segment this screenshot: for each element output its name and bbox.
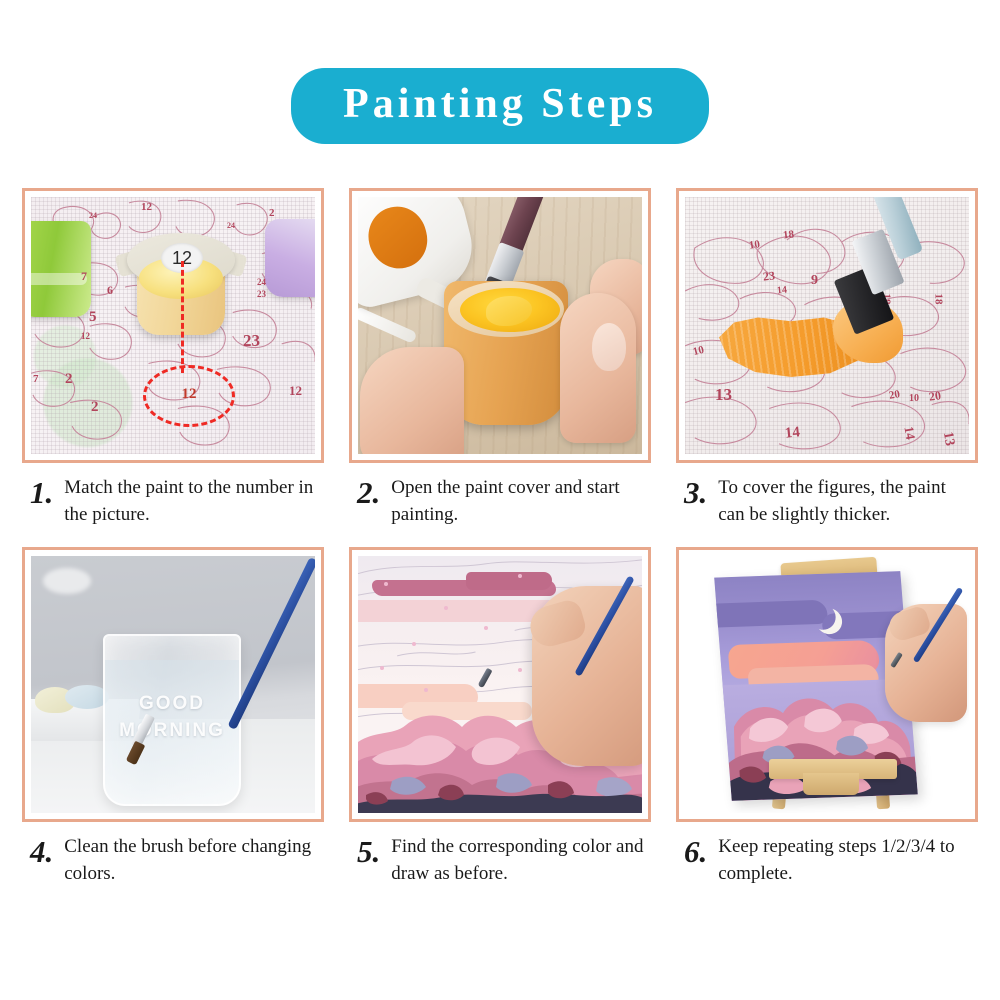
painted-mauve-band-2 bbox=[466, 572, 552, 590]
title-banner: Painting Steps bbox=[291, 68, 709, 144]
pot-rim bbox=[448, 281, 564, 337]
canvas-number: 24 bbox=[257, 277, 266, 287]
guide-dot bbox=[518, 574, 522, 578]
canvas-number: 7 bbox=[81, 269, 87, 284]
paint-pot-number-match-photo: 12 24 2 24 7 6 5 12 23 24 23 2 2 7 12 bbox=[31, 197, 315, 454]
thick-paint-brush-stroke-photo: 10 18 23 14 9 20 18 18 20 10 20 13 14 20… bbox=[685, 197, 969, 454]
water-glass: GOOD MORNING bbox=[103, 634, 241, 806]
step-1-number: 1. bbox=[30, 475, 53, 508]
glass-text-line-1: GOOD bbox=[105, 690, 239, 718]
canvas-number: 6 bbox=[107, 283, 113, 298]
painting-steps-infographic: Painting Steps bbox=[0, 0, 1000, 1000]
step-5-caption: 5. Find the corresponding color and draw… bbox=[349, 822, 651, 888]
canvas-number: 18 bbox=[782, 228, 794, 241]
open-paint-pot-photo bbox=[358, 197, 642, 454]
hand-thumb bbox=[360, 347, 464, 454]
step-1-caption: 1. Match the paint to the number in the … bbox=[22, 463, 324, 529]
step-5-text: Find the corresponding color and draw as… bbox=[391, 834, 646, 888]
step-card-5: 5. Find the corresponding color and draw… bbox=[349, 547, 651, 888]
canvas-number: 2 bbox=[65, 371, 73, 388]
step-6-number: 6. bbox=[684, 834, 707, 867]
canvas-number: 12 bbox=[141, 201, 152, 213]
canvas-number: 12 bbox=[81, 331, 90, 341]
guide-dot bbox=[384, 582, 388, 586]
canvas-number: 20 bbox=[928, 388, 942, 405]
canvas-number: 12 bbox=[289, 383, 302, 399]
painting-in-progress-photo bbox=[358, 556, 642, 813]
purple-paint-pot bbox=[265, 219, 315, 297]
canvas-number: 20 bbox=[888, 388, 901, 402]
clean-brush-in-water-photo: GOOD MORNING bbox=[31, 556, 315, 813]
blurred-object-top-left bbox=[43, 568, 91, 594]
guide-dot bbox=[412, 642, 416, 646]
canvas-number: 14 bbox=[784, 424, 801, 442]
step-2-number: 2. bbox=[357, 475, 380, 508]
canvas-number: 24 bbox=[89, 211, 97, 220]
step-2-text: Open the paint cover and start painting. bbox=[391, 475, 646, 529]
step-4-photo-frame: GOOD MORNING bbox=[22, 547, 324, 822]
yellow-paint bbox=[460, 288, 560, 332]
steps-grid: 12 24 2 24 7 6 5 12 23 24 23 2 2 7 12 bbox=[22, 188, 978, 888]
canvas-number: 10 bbox=[748, 238, 761, 251]
canvas-number: 5 bbox=[89, 309, 97, 326]
step-card-3: 10 18 23 14 9 20 18 18 20 10 20 13 14 20… bbox=[676, 188, 978, 529]
red-dashed-connector-line bbox=[181, 261, 184, 373]
canvas-number: 18 bbox=[933, 294, 945, 305]
step-3-text: To cover the figures, the paint can be s… bbox=[718, 475, 973, 529]
glass-text-line-2: MORNING bbox=[105, 717, 239, 745]
canvas-number: 23 bbox=[762, 268, 776, 284]
fingernail bbox=[592, 323, 626, 371]
step-1-photo-frame: 12 24 2 24 7 6 5 12 23 24 23 2 2 7 12 bbox=[22, 188, 324, 463]
step-card-1: 12 24 2 24 7 6 5 12 23 24 23 2 2 7 12 bbox=[22, 188, 324, 529]
guide-dot bbox=[444, 606, 448, 610]
canvas-number: 10 bbox=[909, 393, 919, 404]
step-3-number: 3. bbox=[684, 475, 707, 508]
step-6-photo-frame bbox=[676, 547, 978, 822]
step-4-text: Clean the brush before changing colors. bbox=[64, 834, 319, 888]
canvas-target-number: 12 bbox=[146, 386, 232, 403]
step-3-caption: 3. To cover the figures, the paint can b… bbox=[676, 463, 978, 529]
canvas-number: 23 bbox=[243, 331, 260, 351]
step-5-number: 5. bbox=[357, 834, 380, 867]
step-card-2: 2. Open the paint cover and start painti… bbox=[349, 188, 651, 529]
step-1-text: Match the paint to the number in the pic… bbox=[64, 475, 319, 529]
paint-residue-on-lid bbox=[362, 201, 433, 275]
step-5-photo-frame bbox=[349, 547, 651, 822]
hand-finger-right bbox=[560, 293, 636, 443]
canvas-number: 13 bbox=[939, 431, 957, 448]
guide-dot bbox=[518, 668, 522, 672]
step-4-caption: 4. Clean the brush before changing color… bbox=[22, 822, 324, 888]
step-2-caption: 2. Open the paint cover and start painti… bbox=[349, 463, 651, 529]
step-2-photo-frame bbox=[349, 188, 651, 463]
glass-printed-text: GOOD MORNING bbox=[105, 690, 239, 745]
finished-painting-on-easel-photo bbox=[685, 556, 969, 813]
canvas-number: 7 bbox=[33, 373, 39, 385]
easel-brace bbox=[803, 773, 859, 795]
title-banner-wrapper: Painting Steps bbox=[0, 68, 1000, 144]
canvas-number: 14 bbox=[776, 285, 787, 297]
canvas-number: 9 bbox=[811, 273, 818, 289]
step-card-4: GOOD MORNING 4. Clean the brush before c… bbox=[22, 547, 324, 888]
guide-dot bbox=[380, 666, 384, 670]
paint-blob bbox=[486, 296, 532, 326]
canvas-number: 23 bbox=[257, 289, 266, 299]
canvas-number: 2 bbox=[269, 207, 275, 219]
step-6-caption: 6. Keep repeating steps 1/2/3/4 to compl… bbox=[676, 822, 978, 888]
step-6-text: Keep repeating steps 1/2/3/4 to complete… bbox=[718, 834, 973, 888]
red-dashed-highlight-ellipse: 12 bbox=[143, 365, 235, 427]
step-4-number: 4. bbox=[30, 834, 53, 867]
canvas-number: 2 bbox=[91, 399, 99, 416]
guide-dot bbox=[484, 626, 488, 630]
canvas-number: 14 bbox=[900, 425, 918, 441]
page-title: Painting Steps bbox=[343, 82, 657, 126]
step-3-photo-frame: 10 18 23 14 9 20 18 18 20 10 20 13 14 20… bbox=[676, 188, 978, 463]
step-card-6: 6. Keep repeating steps 1/2/3/4 to compl… bbox=[676, 547, 978, 888]
canvas-number: 13 bbox=[715, 385, 732, 405]
